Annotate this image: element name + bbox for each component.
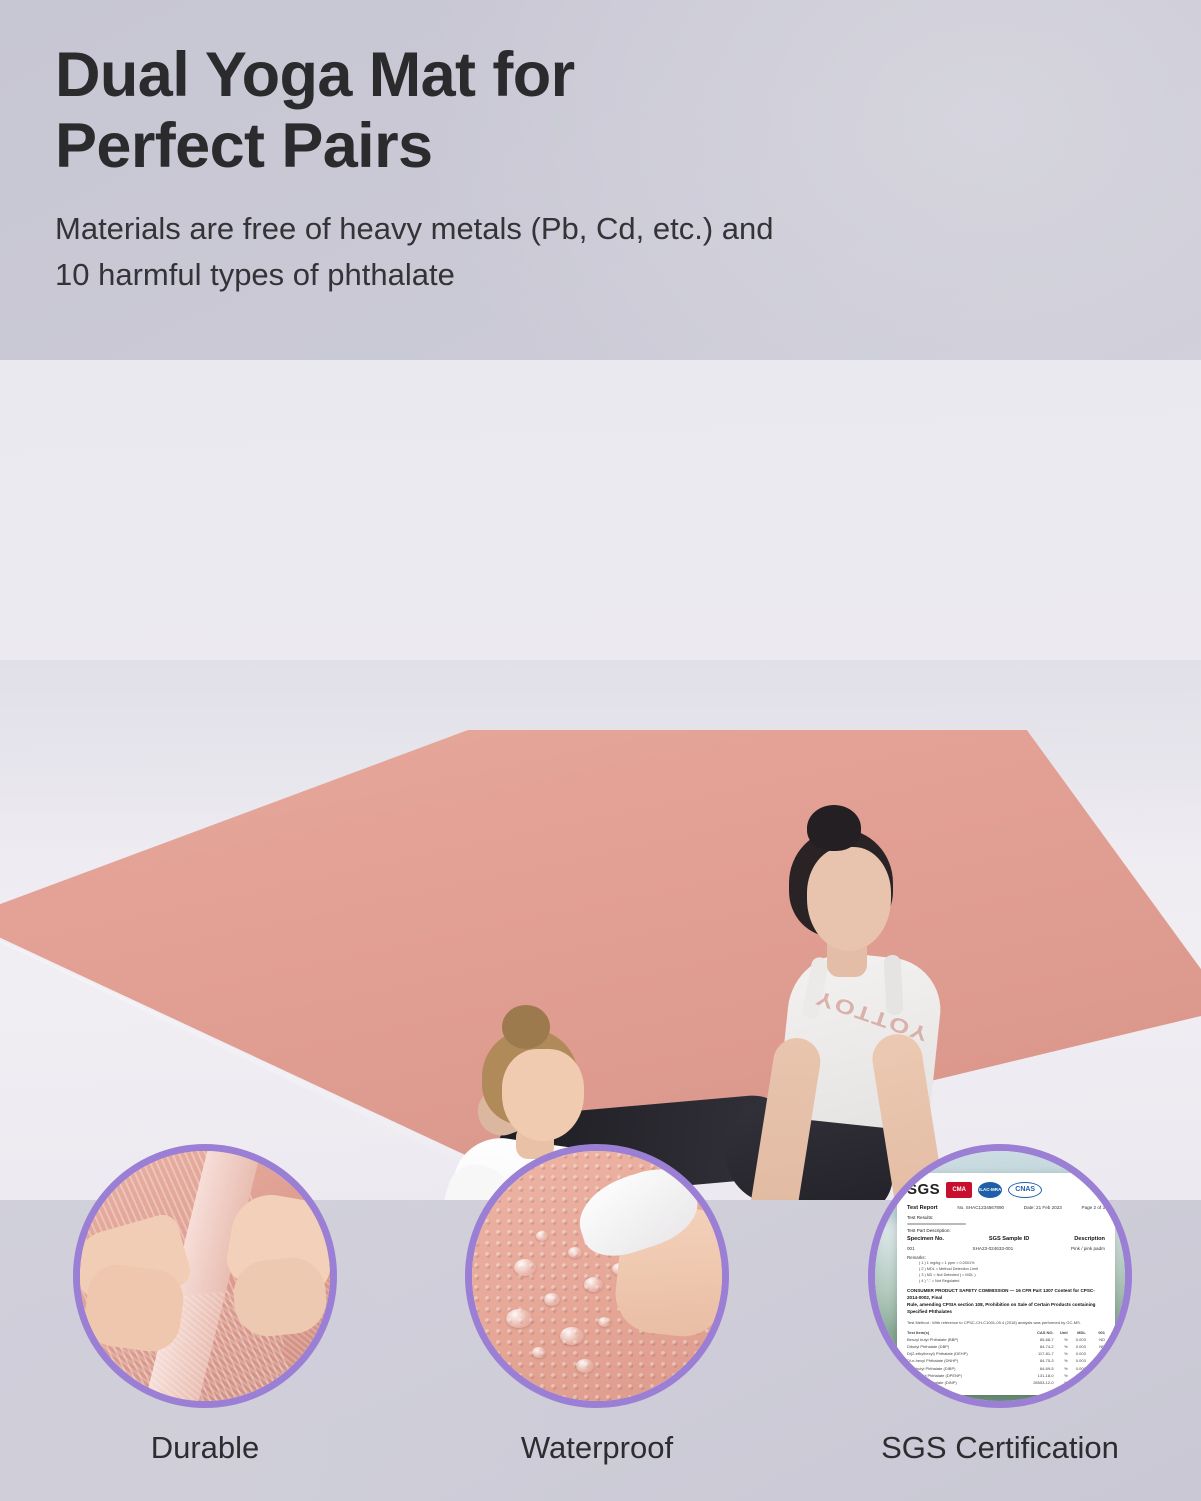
cell-result: ND xyxy=(1086,1336,1105,1343)
table-row: Benzyl butyl Phthalate (BBP) 85-68-7 % 0… xyxy=(907,1336,1105,1343)
th-result: 001 xyxy=(1086,1329,1105,1336)
part-heading: Test Part Description: xyxy=(907,1228,1105,1233)
cell-item: Di(2-ethylhexyl) Phthalate (DEHP) xyxy=(907,1350,1017,1357)
table-row: Di(2-ethylhexyl) Phthalate (DEHP) 117-81… xyxy=(907,1350,1105,1357)
table-row: Diisononyl Phthalate (DINP) 28553-12-0 %… xyxy=(907,1379,1105,1386)
standard-reference: CONSUMER PRODUCT SAFETY COMMISSION — 16 … xyxy=(907,1288,1105,1316)
cell-mdl: 0.003 xyxy=(1068,1336,1086,1343)
feature-label-sgs-certification: SGS Certification xyxy=(868,1430,1132,1466)
col-sample-id: SGS Sample ID xyxy=(989,1236,1029,1242)
woman-face xyxy=(807,847,891,951)
results-table: Test Item(s) CAS NO. Unit MDL 001 Benzyl… xyxy=(907,1329,1105,1394)
woman-figure xyxy=(745,805,1075,1200)
woman-bra-strap-right xyxy=(883,955,903,1016)
water-droplet xyxy=(532,1347,546,1358)
feature-label-durable: Durable xyxy=(73,1430,337,1466)
cell-mdl: 0.003 xyxy=(1068,1379,1086,1386)
th-mdl: MDL xyxy=(1068,1329,1086,1336)
girl-hair-bun xyxy=(502,1005,550,1049)
waterproof-image xyxy=(465,1144,729,1408)
report-header-row: Test Report No. SHAC1234567890 Date: 21 … xyxy=(907,1205,1105,1211)
page-title-line-1: Dual Yoga Mat for xyxy=(55,40,1055,111)
cell-item: Diisobutyl Phthalate (DIBP) xyxy=(907,1365,1017,1372)
table-row: Diisobutyl Phthalate (DIBP) 84-69-5 % 0.… xyxy=(907,1365,1105,1372)
sgs-artwork: SGS CMA ILAC-MRA CNAS Test Report No. SH… xyxy=(875,1151,1125,1401)
cell-mdl: 0.003 xyxy=(1068,1357,1086,1364)
certification-logos: SGS CMA ILAC-MRA CNAS xyxy=(907,1181,1105,1198)
page-title: Dual Yoga Mat for Perfect Pairs xyxy=(55,40,1055,181)
header: Dual Yoga Mat for Perfect Pairs Material… xyxy=(55,40,1055,297)
cell-result: ND xyxy=(1086,1365,1105,1372)
page-title-line-2: Perfect Pairs xyxy=(55,111,1055,182)
th-cas-no: CAS NO. xyxy=(1017,1329,1054,1336)
cell-unit: % xyxy=(1054,1343,1068,1350)
cell-result: ND xyxy=(1086,1379,1105,1386)
th-unit: Unit xyxy=(1054,1329,1068,1336)
cell-cas: 131-18-0 xyxy=(1017,1372,1054,1379)
cell-unit: % xyxy=(1054,1379,1068,1386)
report-number: No. SHAC1234567890 xyxy=(957,1205,1004,1211)
cell-cas: 85-68-7 xyxy=(1017,1336,1054,1343)
th-test-item: Test Item(s) xyxy=(907,1329,1017,1336)
cell-item: Benzyl butyl Phthalate (BBP) xyxy=(907,1336,1017,1343)
cell-cas: 84-74-2 xyxy=(1017,1343,1054,1350)
product-marketing-page: Dual Yoga Mat for Perfect Pairs Material… xyxy=(0,0,1201,1501)
cell-cas: 84-75-3 xyxy=(1017,1357,1054,1364)
row-sample-id: SHA23-024633-001 xyxy=(973,1246,1014,1251)
cell-mdl: 0.003 xyxy=(1068,1350,1086,1357)
cell-mdl: 0.003 xyxy=(1068,1343,1086,1350)
table-header-row: Test Item(s) CAS NO. Unit MDL 001 xyxy=(907,1329,1105,1336)
cell-cas: 117-81-7 xyxy=(1017,1350,1054,1357)
water-droplet xyxy=(598,1317,611,1327)
remark-4: ( 4 ) "-" = Not Regulated xyxy=(919,1278,1105,1284)
results-heading: Test Results: xyxy=(907,1215,1105,1220)
report-date: Date: 21 Feb 2023 xyxy=(1024,1205,1062,1211)
water-droplet xyxy=(506,1309,532,1328)
page-subtitle-line-2: 10 harmful types of phthalate xyxy=(55,252,1055,298)
sgs-image: SGS CMA ILAC-MRA CNAS Test Report No. SH… xyxy=(868,1144,1132,1408)
cell-cas: 84-69-5 xyxy=(1017,1365,1054,1372)
cell-item: Di-n-pentyl Phthalate (DPENP) xyxy=(907,1372,1017,1379)
feature-durable: Durable xyxy=(73,1144,337,1466)
conclusion-label: Conclusion xyxy=(907,1386,1017,1393)
test-method: Test Method : With reference to CPSC-CH-… xyxy=(907,1320,1105,1325)
cell-result: ND xyxy=(1086,1357,1105,1364)
water-droplet xyxy=(536,1231,548,1241)
durable-image xyxy=(73,1144,337,1408)
water-droplet xyxy=(568,1247,582,1258)
ilac-mra-logo: ILAC-MRA xyxy=(978,1182,1002,1198)
feature-sgs-certification: SGS CMA ILAC-MRA CNAS Test Report No. SH… xyxy=(868,1144,1132,1466)
row-specimen: 001 xyxy=(907,1246,915,1251)
girl-face xyxy=(502,1049,584,1141)
standard-line-1: CONSUMER PRODUCT SAFETY COMMISSION — 16 … xyxy=(907,1288,1105,1302)
cell-cas: 28553-12-0 xyxy=(1017,1379,1054,1386)
cell-unit: % xyxy=(1054,1357,1068,1364)
water-droplet xyxy=(584,1277,603,1292)
cell-mdl: 0.003 xyxy=(1068,1365,1086,1372)
remarks-list: ( 1 ) 1 mg/kg = 1 ppm = 0.0001% ( 2 ) MD… xyxy=(907,1260,1105,1284)
col-specimen: Specimen No. xyxy=(907,1236,944,1242)
sgs-test-report-document: SGS CMA ILAC-MRA CNAS Test Report No. SH… xyxy=(897,1173,1115,1395)
table-row: Di-n-pentyl Phthalate (DPENP) 131-18-0 %… xyxy=(907,1372,1105,1379)
woman-hair-bun xyxy=(807,805,861,851)
standard-line-2: Rule, amending CPSIA section 108, Prohib… xyxy=(907,1302,1105,1316)
cnas-logo: CNAS xyxy=(1008,1182,1042,1198)
doc-rule xyxy=(907,1223,966,1225)
cell-unit: % xyxy=(1054,1365,1068,1372)
cell-unit: % xyxy=(1054,1372,1068,1379)
cma-logo: CMA xyxy=(946,1182,972,1198)
table-row: Dibutyl Phthalate (DBP) 84-74-2 % 0.003 … xyxy=(907,1343,1105,1350)
page-subtitle: Materials are free of heavy metals (Pb, … xyxy=(55,206,1055,297)
row-description: Pink / pink padm xyxy=(1071,1246,1105,1251)
durable-artwork xyxy=(80,1151,330,1401)
report-title: Test Report xyxy=(907,1205,938,1211)
table-row: Di-n-hexyl Phthalate (DNHP) 84-75-3 % 0.… xyxy=(907,1357,1105,1364)
water-droplet xyxy=(514,1259,536,1276)
cell-item: Diisononyl Phthalate (DINP) xyxy=(907,1379,1017,1386)
specimen-value-row: 001 SHA23-024633-001 Pink / pink padm xyxy=(907,1246,1105,1251)
waterproof-artwork xyxy=(472,1151,722,1401)
water-droplet xyxy=(544,1293,560,1306)
cell-item: Dibutyl Phthalate (DBP) xyxy=(907,1343,1017,1350)
cell-mdl: 0.003 xyxy=(1068,1372,1086,1379)
durable-hand-left-lower xyxy=(81,1261,187,1356)
cell-unit: % xyxy=(1054,1336,1068,1343)
cell-result: ND xyxy=(1086,1372,1105,1379)
col-description: Description xyxy=(1074,1236,1105,1242)
feature-label-waterproof: Waterproof xyxy=(465,1430,729,1466)
specimen-header-row: Specimen No. SGS Sample ID Description xyxy=(907,1236,1105,1242)
conclusion-row: Conclusion PASS xyxy=(907,1386,1105,1393)
page-subtitle-line-1: Materials are free of heavy metals (Pb, … xyxy=(55,206,1055,252)
conclusion-value: PASS xyxy=(1086,1386,1105,1393)
cell-item: Di-n-hexyl Phthalate (DNHP) xyxy=(907,1357,1017,1364)
water-droplet xyxy=(560,1327,584,1345)
cell-unit: % xyxy=(1054,1350,1068,1357)
water-droplet xyxy=(576,1359,594,1373)
report-page: Page 2 of 3 xyxy=(1082,1205,1106,1211)
feature-waterproof: Waterproof xyxy=(465,1144,729,1466)
sgs-logo: SGS xyxy=(907,1181,940,1198)
hero-product-photo xyxy=(0,360,1201,1200)
cell-result: ND xyxy=(1086,1343,1105,1350)
cell-result: ND xyxy=(1086,1350,1105,1357)
